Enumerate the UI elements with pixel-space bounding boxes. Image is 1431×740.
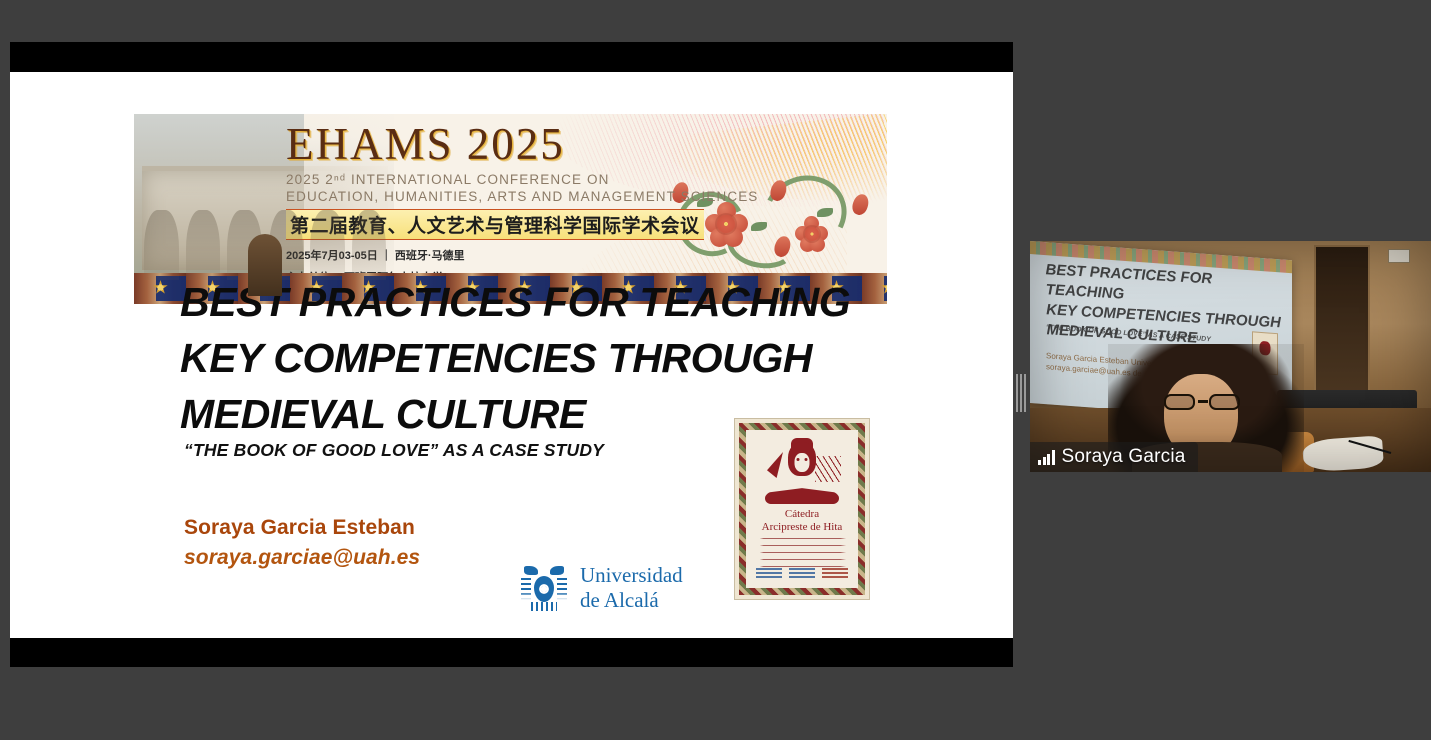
uah-crest-icon [520, 564, 568, 612]
panel-resize-handle[interactable] [1016, 372, 1026, 414]
signal-bars-icon [1038, 450, 1055, 465]
facade-doorway [248, 234, 282, 296]
conference-subtitle-line-1: 2025 2ⁿᵈ INTERNATIONAL CONFERENCE ON [286, 172, 879, 187]
participant-name-badge: Soraya Garcia [1030, 442, 1198, 472]
uah-logo-line-2: de Alcalá [580, 588, 683, 613]
eyeglasses-icon [1162, 394, 1242, 410]
uah-logo-line-1: Universidad [580, 563, 683, 588]
catedra-arcipreste-de-hita-poster: Cátedra Arcipreste de Hita [734, 418, 870, 600]
universidad-de-alcala-logo: Universidad de Alcalá [520, 562, 700, 614]
participant-video-tile[interactable]: BEST PRACTICES FOR TEACHING KEY COMPETEN… [1030, 241, 1431, 472]
slide-title: BEST PRACTICES FOR TEACHING KEY COMPETEN… [180, 274, 880, 442]
participant-name-label: Soraya Garcia [1062, 446, 1186, 468]
poster-title-line-2: Arcipreste de Hita [746, 521, 858, 534]
meeting-window: EHAMS 2025 2025 2ⁿᵈ INTERNATIONAL CONFER… [0, 0, 1431, 740]
catedra-emblem-icon [765, 442, 839, 504]
presentation-slide: EHAMS 2025 2025 2ⁿᵈ INTERNATIONAL CONFER… [10, 72, 1013, 638]
event-acronym: EHAMS 2025 [286, 120, 879, 168]
conference-subtitle-line-2: EDUCATION, HUMANITIES, ARTS AND MANAGEME… [286, 189, 879, 204]
slide-subtitle: “THE BOOK OF GOOD LOVE” AS A CASE STUDY [184, 440, 604, 461]
room-door [1314, 245, 1370, 395]
slide-title-line-2: KEY COMPETENCIES THROUGH [180, 330, 880, 386]
slide-title-line-1: BEST PRACTICES FOR TEACHING [180, 274, 880, 330]
author-name: Soraya Garcia Esteban [184, 516, 415, 540]
shared-screen-panel[interactable]: EHAMS 2025 2025 2ⁿᵈ INTERNATIONAL CONFER… [10, 42, 1013, 667]
microphone [1335, 446, 1395, 472]
poster-title-line-1: Cátedra [746, 508, 858, 521]
poster-sponsor-logos [752, 566, 852, 580]
wall-speaker [1388, 249, 1410, 263]
author-email: soraya.garciae@uah.es [184, 546, 420, 570]
